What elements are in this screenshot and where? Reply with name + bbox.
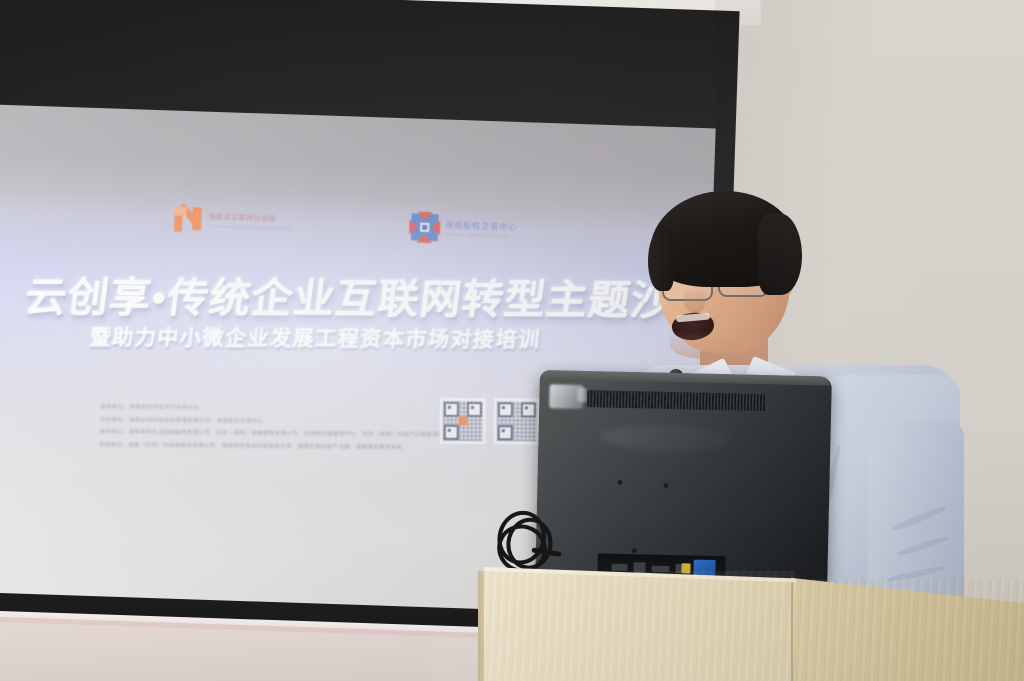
credit-line: 支持单位：海南（北京）科创投股份有限公司 海南阿凯海洋科技有限公司 海南互联科技… bbox=[99, 440, 429, 451]
podium bbox=[470, 555, 1024, 681]
logo-hainan-internet: 海南省互联网协会园 HAINAN INTERNET ASSOCIATION bbox=[174, 207, 292, 236]
credit-line: 承办单位：海南本地生活网络服务有限公司 云创（海南）金融服务有限公司 云创孵化器… bbox=[99, 427, 429, 438]
logo-hainan-equity: 海南股权交易中心 Hainan Equity Exchange bbox=[411, 213, 518, 243]
qr-code-left bbox=[440, 398, 486, 444]
slide-logo-row: 海南省互联网协会园 HAINAN INTERNET ASSOCIATION 海南… bbox=[174, 206, 518, 244]
speaker-nose bbox=[684, 287, 706, 313]
logo-left-en-text: HAINAN INTERNET ASSOCIATION bbox=[208, 224, 291, 232]
qr-code-right bbox=[494, 398, 540, 444]
slide-title-main: 云创享•传统企业互联网转型主题沙龙 bbox=[22, 263, 712, 326]
podium-side-face bbox=[792, 578, 1024, 681]
credit-line: 主办单位：海南云创科技信息管理有限公司 海南股权交易中心 bbox=[100, 415, 430, 426]
credit-line: 指导单位：海南省科学技术厅信息化处 bbox=[100, 402, 430, 413]
logo-right-cn-text: 海南股权交易中心 bbox=[445, 219, 517, 232]
slide-qr-row bbox=[440, 398, 540, 445]
presentation-photo: 海南省互联网协会园 HAINAN INTERNET ASSOCIATION 海南… bbox=[0, 0, 1024, 681]
logo-left-cn-text: 海南省互联网协会园 bbox=[208, 212, 291, 225]
slide-credits-block: 指导单位：海南省科学技术厅信息化处 主办单位：海南云创科技信息管理有限公司 海南… bbox=[99, 398, 430, 454]
hainan-equity-emblem-icon bbox=[411, 213, 439, 241]
logo-right-en-text: Hainan Equity Exchange bbox=[445, 232, 517, 239]
slide-title-sub: 暨助力中小微企业发展工程资本市场对接培训 bbox=[88, 322, 712, 355]
orange-n-mark-icon bbox=[174, 207, 202, 233]
podium-front-face bbox=[484, 569, 796, 681]
qr-center-logo-icon bbox=[458, 416, 467, 425]
